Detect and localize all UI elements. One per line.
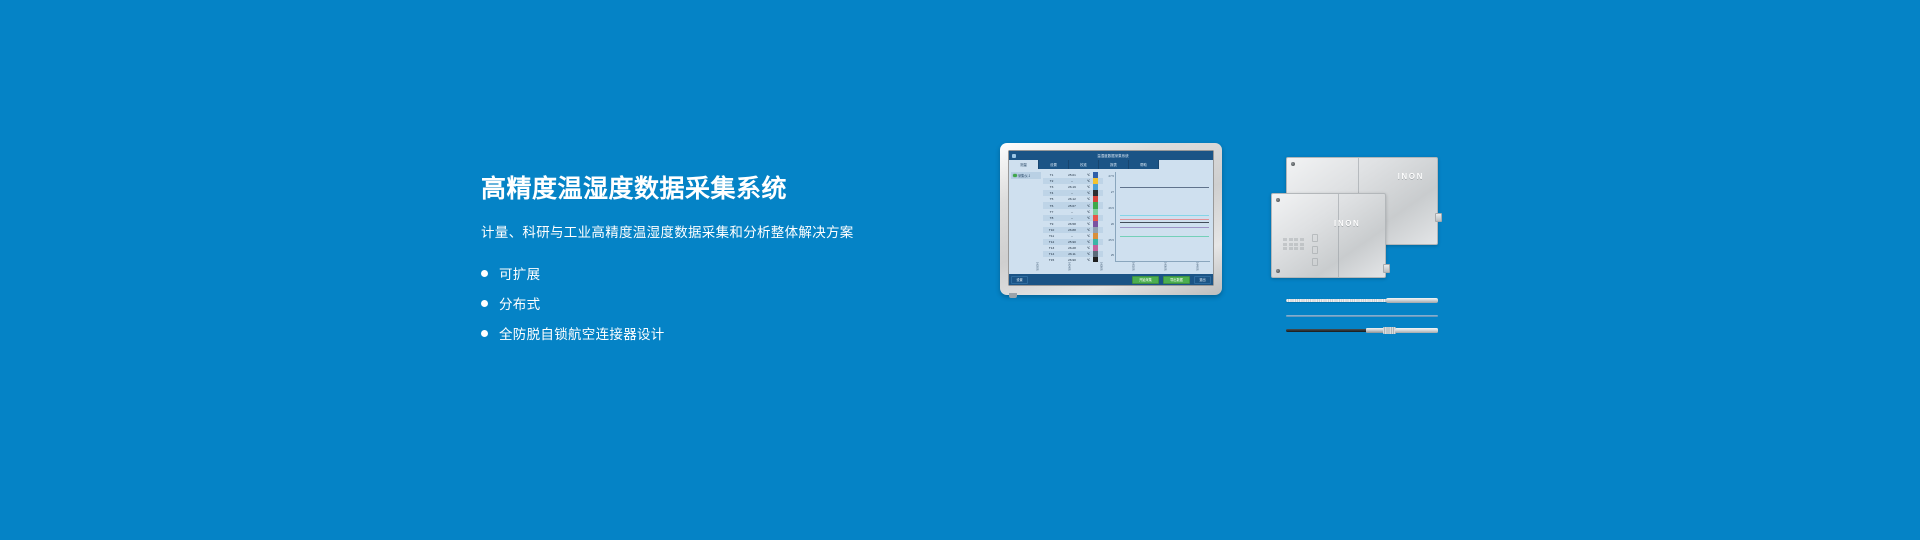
- chart-trace: [1120, 236, 1209, 237]
- feature-label: 全防脱自锁航空连接器设计: [499, 323, 665, 343]
- tab-measure[interactable]: 测量: [1009, 160, 1039, 169]
- panel-pc-device: 温湿度数据采集系统 测量 设置 校准 报表 帮助: [1000, 143, 1222, 295]
- channel-id: T4: [1043, 191, 1060, 195]
- screw-icon: [1291, 162, 1295, 166]
- probe-tip: [1386, 298, 1438, 303]
- data-logger-enclosure-front: INON: [1271, 193, 1386, 278]
- channel-value: --: [1060, 234, 1084, 238]
- channel-id: T10: [1043, 228, 1060, 232]
- chart-trace: [1120, 215, 1209, 216]
- software-body: 采集仪-1 T1 25.01 ℃ T2: [1009, 169, 1213, 262]
- channel-value: --: [1060, 210, 1084, 214]
- page-subtitle: 计量、科研与工业高精度温湿度数据采集和分析整体解决方案: [481, 221, 951, 241]
- feature-bullet-list: 可扩展 分布式 全防脱自锁航空连接器设计: [481, 261, 951, 346]
- channel-value: 26.11: [1060, 252, 1084, 256]
- tab-settings[interactable]: 设置: [1039, 160, 1069, 169]
- probe-shaft: [1286, 299, 1389, 302]
- feature-label: 分布式: [499, 293, 540, 313]
- channel-unit: ℃: [1084, 197, 1093, 201]
- chart-plot-area: [1116, 172, 1210, 262]
- connector-port: [1383, 264, 1390, 273]
- channel-value: --: [1060, 191, 1084, 195]
- status-led-icon: [1013, 174, 1017, 178]
- chart-x-axis: 14:20:01 14:24:01 14:28:01 14:32:01 14:3…: [1009, 262, 1213, 274]
- sensor-cable-blue: [1286, 314, 1438, 317]
- bullet-dot-icon: [481, 270, 488, 277]
- sensor-cable-with-aviation-connector: [1286, 327, 1438, 334]
- connector-port: [1435, 213, 1442, 222]
- spec-label-grid: [1283, 238, 1304, 250]
- exit-button[interactable]: 退出: [1194, 276, 1211, 284]
- channel-unit: ℃: [1084, 246, 1093, 250]
- product-image-group: 温湿度数据采集系统 测量 设置 校准 报表 帮助: [985, 140, 1545, 380]
- channel-id: T6: [1043, 204, 1060, 208]
- channel-value: 26.19: [1060, 185, 1084, 189]
- channel-unit: ℃: [1084, 204, 1093, 208]
- device-name-label: 采集仪-1: [1018, 173, 1030, 178]
- tab-report[interactable]: 报表: [1099, 160, 1129, 169]
- software-title-bar: 温湿度数据采集系统: [1009, 151, 1213, 160]
- x-axis-tick: 14:32:01: [1132, 262, 1135, 274]
- screw-icon: [1276, 198, 1280, 202]
- channel-unit: ℃: [1084, 173, 1093, 177]
- tab-bar-filler: [1159, 160, 1213, 169]
- chart-y-axis: 27.5 27 26.5 26 25.5 25: [1104, 172, 1116, 262]
- tab-calibrate[interactable]: 校准: [1069, 160, 1099, 169]
- channel-unit: ℃: [1084, 234, 1093, 238]
- channel-id: T12: [1043, 240, 1060, 244]
- cable-jacket: [1286, 315, 1438, 317]
- y-axis-tick: 27.5: [1109, 174, 1114, 178]
- channel-value: 25.67: [1060, 204, 1084, 208]
- bullet-dot-icon: [481, 300, 488, 307]
- connector-bay-icons: [1312, 234, 1318, 266]
- brand-logo: INON: [1334, 219, 1360, 228]
- channel-value: 26.88: [1060, 228, 1084, 232]
- tab-help[interactable]: 帮助: [1129, 160, 1159, 169]
- list-item: 可扩展: [481, 261, 951, 286]
- sidebar-item-device[interactable]: 采集仪-1: [1011, 172, 1041, 179]
- software-footer-bar: 设置 开始采集 导出数据 退出: [1009, 274, 1213, 285]
- x-axis-tick: 14:24:01: [1068, 262, 1071, 274]
- screw-icon: [1276, 269, 1280, 273]
- channel-unit: ℃: [1084, 216, 1093, 220]
- panel-pc-stand: [1009, 293, 1017, 298]
- channel-id: T2: [1043, 179, 1060, 183]
- brand-logo: INON: [1398, 172, 1424, 181]
- y-axis-tick: 26: [1111, 222, 1114, 226]
- channel-id: T9: [1043, 222, 1060, 226]
- channel-unit: ℃: [1084, 222, 1093, 226]
- cable-jacket: [1286, 329, 1368, 332]
- channel-readings-table: T1 25.01 ℃ T2 -- ℃: [1043, 169, 1103, 262]
- y-axis-tick: 27: [1111, 190, 1114, 194]
- channel-unit: ℃: [1084, 252, 1093, 256]
- probe-body: [1395, 328, 1438, 333]
- list-item: 分布式: [481, 291, 951, 316]
- chart-trace: [1120, 219, 1209, 220]
- channel-value: 26.58: [1060, 222, 1084, 226]
- channel-value: 25.01: [1060, 173, 1084, 177]
- y-axis-tick: 25: [1111, 253, 1114, 257]
- channel-unit: ℃: [1084, 185, 1093, 189]
- list-item: 全防脱自锁航空连接器设计: [481, 321, 951, 346]
- feature-label: 可扩展: [499, 263, 540, 283]
- chart-trace: [1120, 222, 1209, 223]
- x-axis-tick: 14:28:01: [1100, 262, 1103, 274]
- channel-value: 26.12: [1060, 197, 1084, 201]
- channel-id: T8: [1043, 216, 1060, 220]
- chart-trace: [1120, 187, 1209, 188]
- channel-unit: ℃: [1084, 191, 1093, 195]
- hero-text-block: 高精度温湿度数据采集系统 计量、科研与工业高精度温湿度数据采集和分析整体解决方案…: [481, 176, 951, 351]
- y-axis-tick: 26.5: [1109, 206, 1114, 210]
- channel-unit: ℃: [1084, 240, 1093, 244]
- channel-unit: ℃: [1084, 179, 1093, 183]
- channel-value: 26.28: [1060, 246, 1084, 250]
- channel-value: --: [1060, 179, 1084, 183]
- channel-value: --: [1060, 216, 1084, 220]
- page-title: 高精度温湿度数据采集系统: [481, 176, 951, 204]
- channel-id: T7: [1043, 210, 1060, 214]
- temperature-probe-rod: [1286, 298, 1438, 303]
- trend-chart: 27.5 27 26.5 26 25.5 25: [1103, 169, 1213, 262]
- x-axis-tick: 14:36:01: [1164, 262, 1167, 274]
- channel-id: T1: [1043, 173, 1060, 177]
- bullet-dot-icon: [481, 330, 488, 337]
- software-tab-bar: 测量 设置 校准 报表 帮助: [1009, 160, 1213, 169]
- chart-trace: [1120, 227, 1209, 228]
- channel-unit: ℃: [1084, 210, 1093, 214]
- channel-id: T3: [1043, 185, 1060, 189]
- panel-pc-bezel: 温湿度数据采集系统 测量 设置 校准 报表 帮助: [1008, 150, 1214, 286]
- settings-button[interactable]: 设置: [1011, 276, 1028, 284]
- cable-ferrule: [1366, 328, 1384, 333]
- x-axis-tick: 14:20:01: [1036, 262, 1039, 274]
- enclosure-seam: [1338, 194, 1339, 277]
- export-data-button[interactable]: 导出数据: [1163, 276, 1190, 284]
- channel-id: T14: [1043, 252, 1060, 256]
- panel-pc-screen: 温湿度数据采集系统 测量 设置 校准 报表 帮助: [1009, 151, 1213, 285]
- channel-id: T13: [1043, 246, 1060, 250]
- channel-id: T5: [1043, 197, 1060, 201]
- channel-value: 25.90: [1060, 240, 1084, 244]
- product-hero-banner: 高精度温湿度数据采集系统 计量、科研与工业高精度温湿度数据采集和分析整体解决方案…: [0, 0, 1920, 540]
- channel-unit: ℃: [1084, 228, 1093, 232]
- software-title: 温湿度数据采集系统: [1016, 153, 1210, 158]
- device-tree-sidebar: 采集仪-1: [1009, 169, 1043, 262]
- y-axis-tick: 25.5: [1109, 238, 1114, 242]
- channel-id: T11: [1043, 234, 1060, 238]
- start-capture-button[interactable]: 开始采集: [1132, 276, 1159, 284]
- x-axis-tick: 14:40:01: [1196, 262, 1199, 274]
